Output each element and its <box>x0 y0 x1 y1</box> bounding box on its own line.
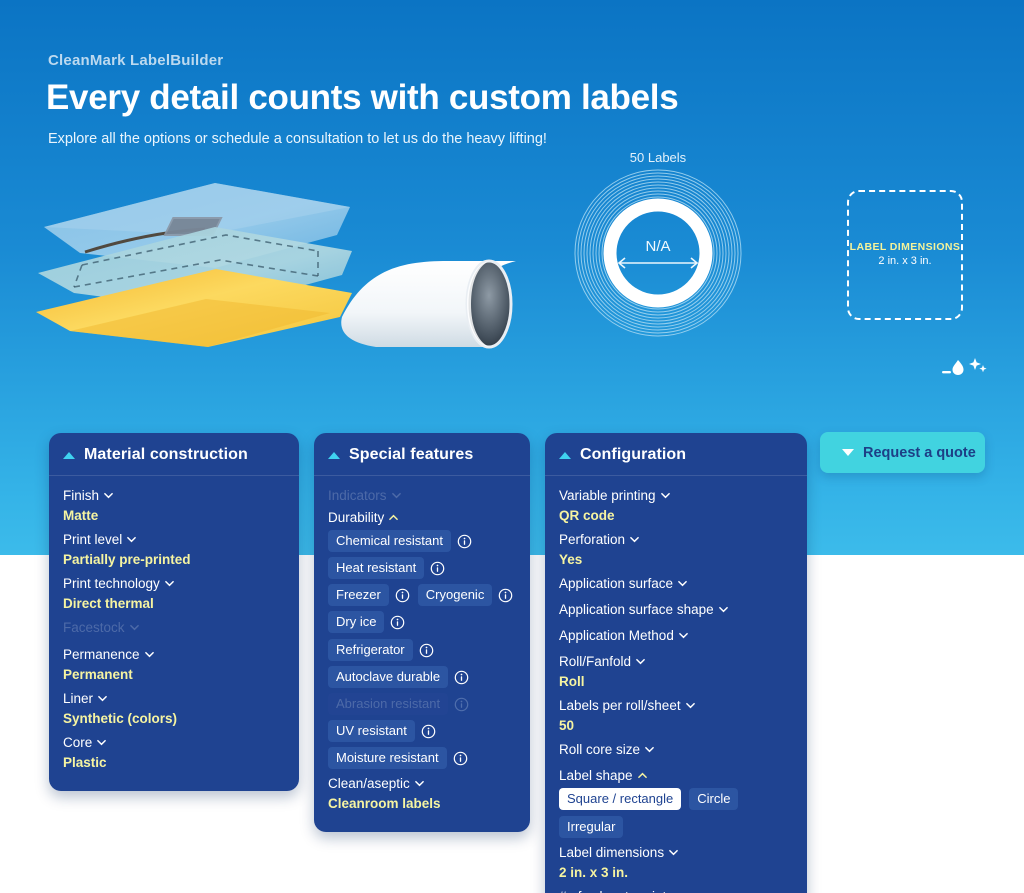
field-print-technology[interactable]: Print technology Direct thermal <box>63 574 285 613</box>
field-label-text: Durability <box>328 508 384 528</box>
chevron-down-icon <box>630 535 639 544</box>
durability-chip-row: Heat resistant <box>328 557 516 579</box>
info-icon[interactable] <box>430 561 445 576</box>
field-label-text: Core <box>63 733 92 753</box>
chip-label[interactable]: Moisture resistant <box>328 747 447 769</box>
field-label[interactable]: Perforation <box>559 530 639 550</box>
chevron-up-icon <box>559 452 571 459</box>
field-value: QR code <box>559 506 793 525</box>
card-header-configuration[interactable]: Configuration <box>545 433 807 476</box>
page-subtitle: Explore all the options or schedule a co… <box>48 131 547 147</box>
field-label[interactable]: Permanence <box>63 645 154 665</box>
chip-uv-resistant[interactable]: UV resistant <box>328 720 436 742</box>
field-value: 50 <box>559 716 793 735</box>
field-value: Roll <box>559 672 793 691</box>
flame-icon <box>953 360 964 375</box>
field-print-level[interactable]: Print level Partially pre-printed <box>63 530 285 569</box>
field-indicators: Indicators <box>328 486 516 506</box>
label-dimensions-preview: LABEL DIMENSIONS 2 in. x 3 in. <box>847 190 963 320</box>
card-body-material-construction: Finish Matte Print level Partially pre-p… <box>49 476 299 772</box>
roll-label-count: 50 Labels <box>558 150 758 165</box>
chevron-down-icon <box>679 631 688 640</box>
chevron-up-icon <box>389 513 398 522</box>
chip-refrigerator[interactable]: Refrigerator <box>328 639 434 661</box>
chevron-down-icon <box>98 694 107 703</box>
durability-chip-row: Dry ice Refrigerator <box>328 611 516 661</box>
chip-label[interactable]: Heat resistant <box>328 557 424 579</box>
durability-chip-row: Chemical resistant <box>328 530 516 552</box>
card-body-special-features: Indicators Durability Chemical resistant <box>314 476 530 813</box>
field-label-text: Roll core size <box>559 740 640 760</box>
chip-moisture-resistant[interactable]: Moisture resistant <box>328 747 468 769</box>
field-value: Permanent <box>63 665 285 684</box>
chevron-down-icon <box>719 605 728 614</box>
durability-chip-row: Freezer Cryogenic <box>328 584 516 606</box>
field-label-dimensions[interactable]: Label dimensions 2 in. x 3 in. <box>559 843 793 882</box>
field-value: Direct thermal <box>63 594 285 613</box>
chip-chemical-resistant[interactable]: Chemical resistant <box>328 530 472 552</box>
field-label-text: Liner <box>63 689 93 709</box>
field-number-of-colors-to-print[interactable]: # of colors to print <box>559 887 793 893</box>
chip-label[interactable]: Refrigerator <box>328 639 413 661</box>
chip-label[interactable]: UV resistant <box>328 720 415 742</box>
chip-cryogenic[interactable]: Cryogenic <box>418 584 514 606</box>
field-label[interactable]: Core <box>63 733 106 753</box>
field-labels-per-roll-sheet[interactable]: Labels per roll/sheet 50 <box>559 696 793 735</box>
field-finish[interactable]: Finish Matte <box>63 486 285 525</box>
field-application-surface[interactable]: Application surface <box>559 574 793 598</box>
card-material-construction[interactable]: Material construction Finish Matte Print… <box>49 433 299 791</box>
chevron-up-icon <box>638 771 647 780</box>
field-application-method[interactable]: Application Method <box>559 626 793 650</box>
chip-label[interactable]: Cryogenic <box>418 584 493 606</box>
info-icon[interactable] <box>390 615 405 630</box>
field-label-text: Application surface <box>559 574 673 594</box>
label-dimensions-value: 2 in. x 3 in. <box>878 255 931 269</box>
label-layers-illustration <box>30 165 550 350</box>
chevron-down-icon <box>645 745 654 754</box>
field-label-text: Variable printing <box>559 486 656 506</box>
field-label[interactable]: Liner <box>63 689 107 709</box>
durability-chip-row: UV resistant <box>328 720 516 742</box>
field-label[interactable]: Durability <box>328 508 398 528</box>
field-value: Cleanroom labels <box>328 794 516 813</box>
field-label[interactable]: Application surface <box>559 574 687 594</box>
field-value: Matte <box>63 506 285 525</box>
field-label-text: # of colors to print <box>559 887 666 893</box>
chevron-down-icon <box>669 848 678 857</box>
chevron-down-icon <box>661 491 670 500</box>
chip-freezer[interactable]: Freezer <box>328 584 410 606</box>
roll-preview: 50 Labels N/A <box>558 150 758 345</box>
page-root: CleanMark LabelBuilder Every detail coun… <box>0 0 1024 893</box>
field-label-text: Print level <box>63 530 122 550</box>
page-title: Every detail counts with custom labels <box>46 78 678 118</box>
chevron-down-icon <box>130 623 139 632</box>
field-value: Synthetic (colors) <box>63 709 285 728</box>
durability-chip-row: Moisture resistant <box>328 747 516 769</box>
field-label-text: Finish <box>63 486 99 506</box>
field-value: Yes <box>559 550 793 569</box>
field-label[interactable]: Application Method <box>559 626 688 646</box>
chevron-down-icon <box>636 657 645 666</box>
field-label[interactable]: Label shape <box>559 766 647 786</box>
field-label[interactable]: Print level <box>63 530 136 550</box>
card-title: Material construction <box>84 446 248 464</box>
chevron-down-icon <box>842 449 854 456</box>
sparkles-icon <box>969 358 981 370</box>
roll-core-size-value: N/A <box>558 238 758 255</box>
shape-option-circle[interactable]: Circle <box>689 788 738 810</box>
chip-dry-ice[interactable]: Dry ice <box>328 611 405 633</box>
chevron-up-icon <box>63 452 75 459</box>
shape-option-irregular[interactable]: Irregular <box>559 816 623 838</box>
chevron-down-icon <box>145 650 154 659</box>
info-icon[interactable] <box>453 751 468 766</box>
chevron-down-icon <box>127 535 136 544</box>
field-label: Facestock <box>63 618 139 638</box>
chevron-down-icon <box>104 491 113 500</box>
field-variable-printing[interactable]: Variable printing QR code <box>559 486 793 525</box>
request-a-quote-label: Request a quote <box>863 445 976 461</box>
card-configuration[interactable]: Configuration Variable printing QR code … <box>545 433 807 893</box>
chip-heat-resistant[interactable]: Heat resistant <box>328 557 445 579</box>
field-label-text: Permanence <box>63 645 140 665</box>
request-a-quote-button[interactable]: Request a quote <box>820 432 985 473</box>
field-label[interactable]: Roll/Fanfold <box>559 652 645 672</box>
durability-chip-row: Autoclave durable <box>328 666 516 688</box>
field-clean-aseptic[interactable]: Clean/aseptic Cleanroom labels <box>328 774 516 813</box>
info-icon[interactable] <box>498 588 513 603</box>
field-facestock: Facestock <box>63 618 285 643</box>
field-label-text: Label shape <box>559 766 633 786</box>
chevron-up-icon <box>328 452 340 459</box>
field-label: Indicators <box>328 486 401 506</box>
card-body-configuration: Variable printing QR code Perforation Ye… <box>545 476 807 893</box>
field-label-text: Indicators <box>328 486 387 506</box>
chevron-down-icon <box>97 738 106 747</box>
field-label[interactable]: Finish <box>63 486 113 506</box>
chip-label: Abrasion resistant <box>328 693 448 715</box>
chevron-down-icon <box>678 579 687 588</box>
field-label[interactable]: Print technology <box>63 574 174 594</box>
field-label[interactable]: # of colors to print <box>559 887 680 893</box>
chip-label[interactable]: Dry ice <box>328 611 384 633</box>
field-label-text: Facestock <box>63 618 125 638</box>
field-value: 2 in. x 3 in. <box>559 863 793 882</box>
field-durability[interactable]: Durability <box>328 508 516 528</box>
field-label[interactable]: Clean/aseptic <box>328 774 424 794</box>
info-icon <box>454 697 469 712</box>
chevron-down-icon <box>686 701 695 710</box>
field-roll-core-size[interactable]: Roll core size <box>559 740 793 764</box>
field-label-shape[interactable]: Label shape Square / rectangle Circle Ir… <box>559 766 793 838</box>
field-label[interactable]: Label dimensions <box>559 843 678 863</box>
info-icon[interactable] <box>421 724 436 739</box>
field-label-text: Label dimensions <box>559 843 664 863</box>
field-core[interactable]: Core Plastic <box>63 733 285 772</box>
field-application-surface-shape[interactable]: Application surface shape <box>559 600 793 624</box>
field-permanence[interactable]: Permanence Permanent <box>63 645 285 684</box>
field-label-text: Perforation <box>559 530 625 550</box>
info-icon[interactable] <box>457 534 472 549</box>
shape-option-square-rectangle[interactable]: Square / rectangle <box>559 788 681 810</box>
card-title: Configuration <box>580 446 686 464</box>
field-label[interactable]: Labels per roll/sheet <box>559 696 695 716</box>
field-value: Partially pre-printed <box>63 550 285 569</box>
dash-icon <box>942 371 951 373</box>
field-roll-fanfold[interactable]: Roll/Fanfold Roll <box>559 652 793 691</box>
field-perforation[interactable]: Perforation Yes <box>559 530 793 569</box>
chevron-down-icon <box>165 579 174 588</box>
chip-label[interactable]: Freezer <box>328 584 389 606</box>
chip-autoclave-durable[interactable]: Autoclave durable <box>328 666 469 688</box>
card-special-features[interactable]: Special features Indicators Durability C… <box>314 433 530 832</box>
field-label-text: Labels per roll/sheet <box>559 696 681 716</box>
field-label-text: Roll/Fanfold <box>559 652 631 672</box>
chevron-down-icon <box>415 779 424 788</box>
field-value: Plastic <box>63 753 285 772</box>
field-label[interactable]: Application surface shape <box>559 600 728 620</box>
field-liner[interactable]: Liner Synthetic (colors) <box>63 689 285 728</box>
durability-chip-row: Abrasion resistant <box>328 693 516 715</box>
chevron-down-icon <box>392 491 401 500</box>
chip-abrasion-resistant: Abrasion resistant <box>328 693 469 715</box>
card-header-special-features[interactable]: Special features <box>314 433 530 476</box>
field-label[interactable]: Roll core size <box>559 740 654 760</box>
chip-label[interactable]: Autoclave durable <box>328 666 448 688</box>
brand-eyebrow: CleanMark LabelBuilder <box>48 52 223 69</box>
field-label-text: Application surface shape <box>559 600 714 620</box>
card-header-material-construction[interactable]: Material construction <box>49 433 299 476</box>
info-icon[interactable] <box>454 670 469 685</box>
info-icon[interactable] <box>395 588 410 603</box>
label-dimensions-caption: LABEL DIMENSIONS <box>850 241 961 254</box>
chip-label[interactable]: Chemical resistant <box>328 530 451 552</box>
field-label-text: Print technology <box>63 574 160 594</box>
field-label[interactable]: Variable printing <box>559 486 670 506</box>
field-label-text: Clean/aseptic <box>328 774 410 794</box>
info-icon[interactable] <box>419 643 434 658</box>
card-title: Special features <box>349 446 473 464</box>
field-label-text: Application Method <box>559 626 674 646</box>
label-shape-options: Square / rectangle Circle Irregular <box>559 788 793 838</box>
feature-decor-icons <box>942 356 988 380</box>
